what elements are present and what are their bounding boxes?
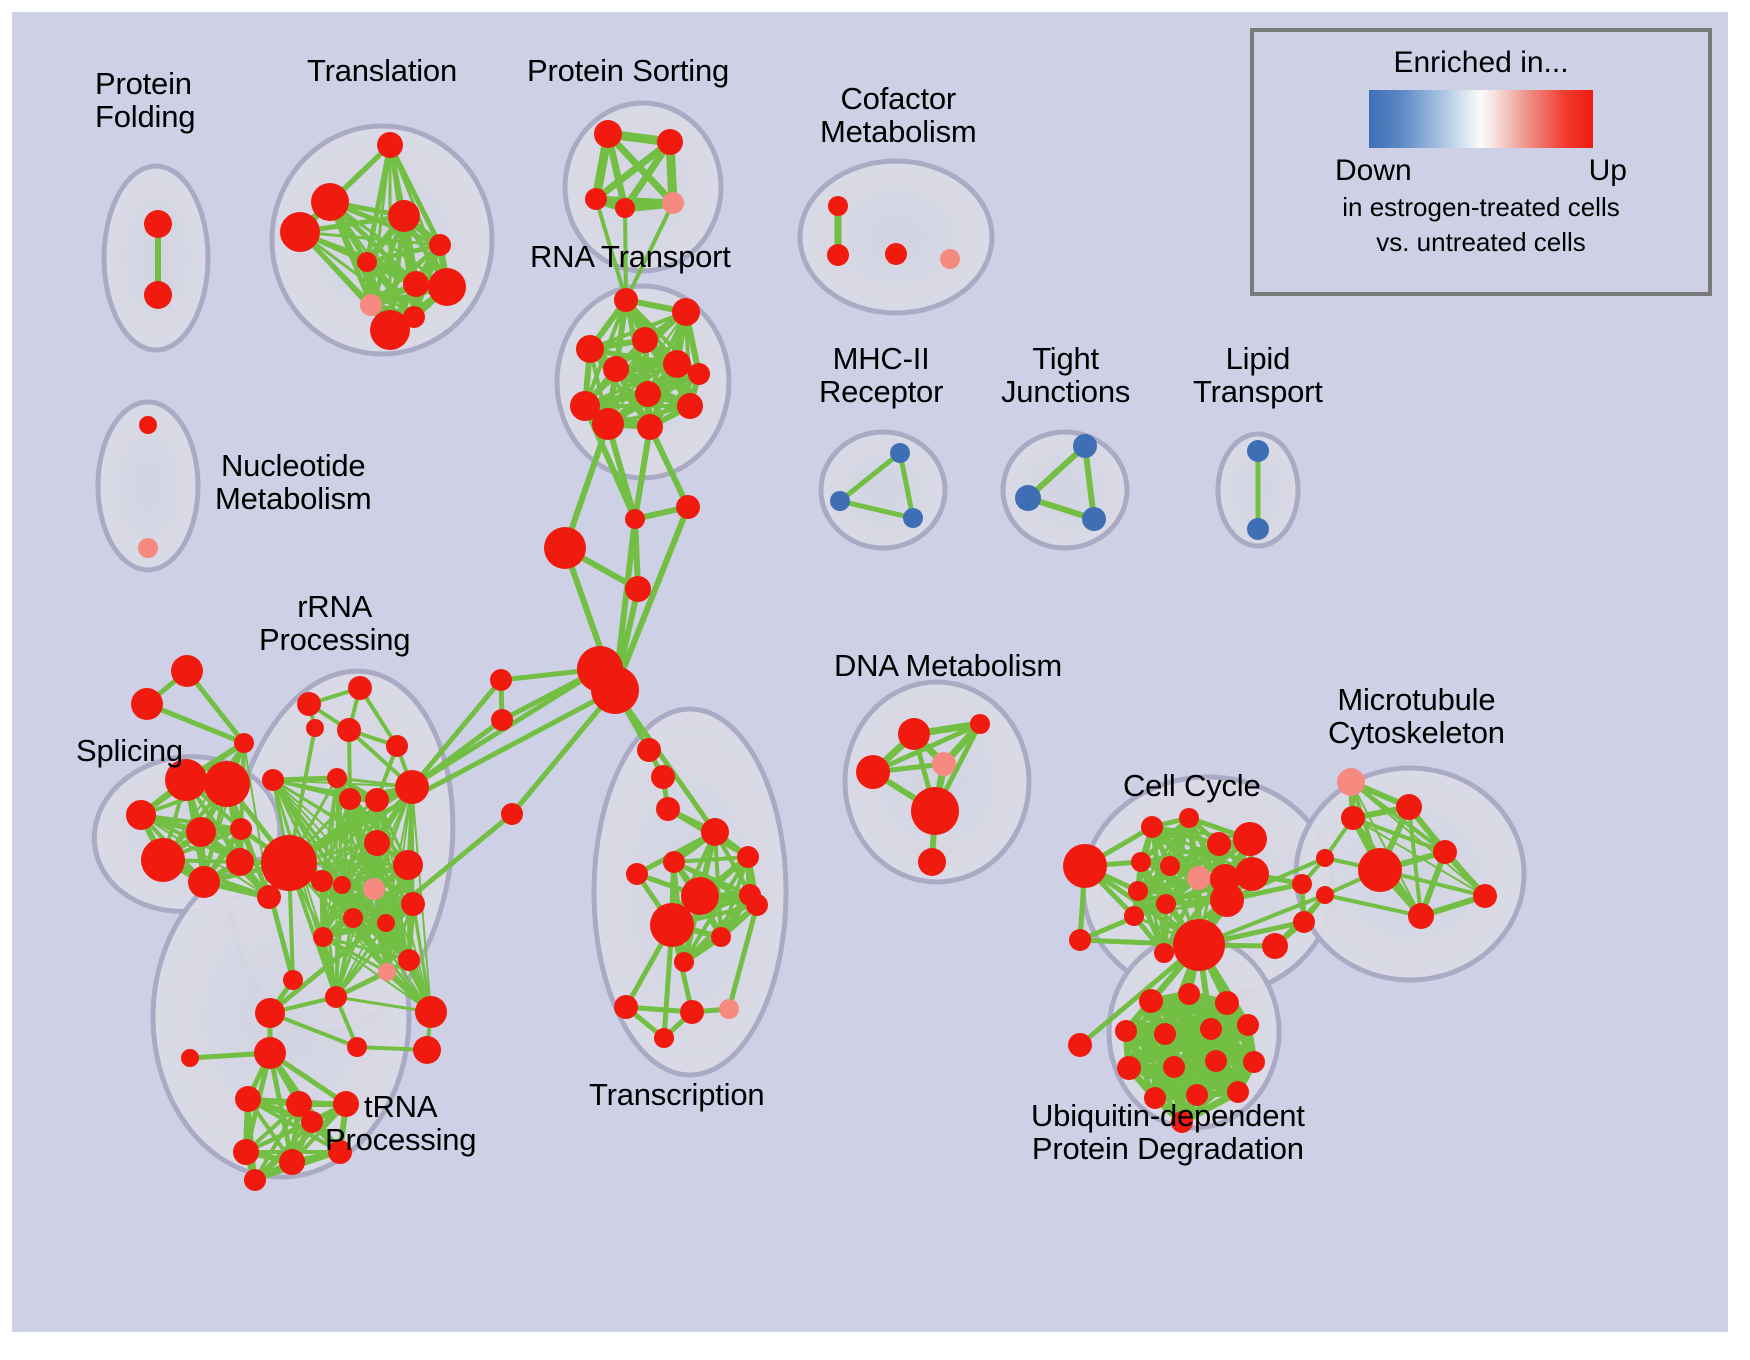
gene-set-node[interactable] (688, 363, 710, 385)
gene-set-node[interactable] (283, 970, 303, 990)
gene-set-node[interactable] (313, 927, 333, 947)
gene-set-node[interactable] (651, 765, 675, 789)
gene-set-node[interactable] (262, 769, 284, 791)
gene-set-node[interactable] (1433, 840, 1457, 864)
gene-set-node[interactable] (591, 666, 639, 714)
gene-set-node[interactable] (1163, 1056, 1185, 1078)
gene-set-node[interactable] (398, 949, 420, 971)
legend-down-label: Down (1335, 154, 1412, 188)
cluster-label-cofactor-metabolism: CofactorMetabolism (820, 82, 977, 149)
gene-set-node[interactable] (719, 999, 739, 1019)
gene-set-node[interactable] (737, 846, 759, 868)
cluster-label-rna-transport: RNA Transport (530, 240, 731, 273)
cluster-label-protein-folding: ProteinFolding (95, 67, 195, 134)
gene-set-node[interactable] (429, 234, 451, 256)
gene-set-node[interactable] (428, 268, 466, 306)
gene-set-node[interactable] (1243, 1051, 1265, 1073)
gene-set-node[interactable] (932, 752, 956, 776)
gene-set-node[interactable] (1207, 832, 1231, 856)
gene-set-node[interactable] (327, 768, 347, 788)
gene-set-node[interactable] (388, 200, 420, 232)
gene-set-node[interactable] (827, 244, 849, 266)
gene-set-node[interactable] (711, 927, 731, 947)
gene-set-node[interactable] (1473, 884, 1497, 908)
gene-set-node[interactable] (1233, 822, 1267, 856)
gene-set-node[interactable] (138, 538, 158, 558)
gene-set-node[interactable] (1247, 440, 1269, 462)
cluster-label-line: Translation (307, 54, 457, 87)
gene-set-node[interactable] (1015, 485, 1041, 511)
gene-set-node[interactable] (677, 393, 703, 419)
cluster-label-line: Cofactor (820, 82, 977, 115)
gene-set-node[interactable] (625, 576, 651, 602)
gene-set-node[interactable] (1117, 1056, 1141, 1080)
gene-set-node[interactable] (333, 876, 351, 894)
gene-set-node[interactable] (393, 850, 423, 880)
gene-set-node[interactable] (1262, 933, 1288, 959)
gene-set-node[interactable] (1215, 991, 1239, 1015)
gene-set-node[interactable] (144, 210, 172, 238)
gene-set-node[interactable] (970, 714, 990, 734)
gene-set-node[interactable] (898, 718, 930, 750)
gene-set-node[interactable] (377, 914, 395, 932)
gene-set-node[interactable] (343, 908, 363, 928)
cluster-label-line: DNA Metabolism (834, 649, 1062, 682)
legend-box: Enriched in... Down Up in estrogen-treat… (1250, 28, 1712, 296)
gene-set-node[interactable] (386, 735, 408, 757)
gene-set-node[interactable] (903, 508, 923, 528)
figure-root: ProteinFoldingTranslationProtein Sorting… (0, 0, 1750, 1360)
gene-set-node[interactable] (226, 848, 254, 876)
gene-set-node[interactable] (1154, 943, 1174, 963)
gene-set-node[interactable] (1200, 1018, 1222, 1040)
legend-subtitle-line2: vs. untreated cells (1376, 227, 1586, 258)
gene-set-node[interactable] (490, 669, 512, 691)
gene-set-node[interactable] (1069, 929, 1091, 951)
gene-set-node[interactable] (311, 870, 333, 892)
legend-subtitle-line1: in estrogen-treated cells (1342, 192, 1619, 223)
gene-set-node[interactable] (395, 770, 429, 804)
cluster-label-ubiquitin-degradation: Ubiquitin-dependentProtein Degradation (1031, 1099, 1305, 1166)
gene-set-node[interactable] (656, 797, 680, 821)
gene-set-node[interactable] (614, 288, 638, 312)
gene-set-node[interactable] (626, 863, 648, 885)
cluster-label-protein-sorting: Protein Sorting (527, 54, 729, 87)
gene-set-node[interactable] (325, 986, 347, 1008)
gene-set-node[interactable] (306, 719, 324, 737)
cluster-label-line: tRNA (325, 1090, 476, 1123)
cluster-label-cell-cycle: Cell Cycle (1123, 769, 1261, 802)
gene-set-node[interactable] (1205, 1050, 1227, 1072)
gene-set-node[interactable] (139, 416, 157, 434)
cluster-label-line: Junctions (1001, 375, 1130, 408)
gene-set-node[interactable] (280, 212, 320, 252)
cluster-label-line: Protein Degradation (1031, 1132, 1305, 1165)
gene-set-node[interactable] (186, 817, 216, 847)
cluster-label-nucleotide-metabolism: NucleotideMetabolism (215, 449, 372, 516)
gene-set-node[interactable] (1063, 844, 1107, 888)
gene-set-node[interactable] (890, 443, 910, 463)
gene-set-node[interactable] (357, 252, 377, 272)
gene-set-node[interactable] (348, 676, 372, 700)
gene-set-node[interactable] (144, 281, 172, 309)
gene-set-node[interactable] (311, 183, 349, 221)
gene-set-node[interactable] (365, 788, 389, 812)
gene-set-node[interactable] (403, 271, 429, 297)
cluster-label-line: Cell Cycle (1123, 769, 1261, 802)
gene-set-node[interactable] (279, 1149, 305, 1175)
gene-set-node[interactable] (233, 1139, 259, 1165)
gene-set-node[interactable] (1178, 983, 1200, 1005)
gene-set-node[interactable] (592, 408, 624, 440)
legend-title: Enriched in... (1393, 46, 1568, 80)
gene-set-node[interactable] (662, 192, 684, 214)
cluster-label-line: Metabolism (820, 115, 977, 148)
gene-set-node[interactable] (918, 848, 946, 876)
gene-set-node[interactable] (1115, 1020, 1137, 1042)
gene-set-node[interactable] (363, 878, 385, 900)
cluster-label-lipid-transport: LipidTransport (1193, 342, 1323, 409)
gene-set-node[interactable] (230, 818, 252, 840)
gene-set-node[interactable] (885, 243, 907, 265)
gene-set-node[interactable] (585, 188, 607, 210)
gene-set-node[interactable] (632, 327, 658, 353)
gene-set-node[interactable] (131, 688, 163, 720)
gene-set-node[interactable] (676, 495, 700, 519)
cluster-label-line: Splicing (76, 734, 183, 767)
gene-set-node[interactable] (501, 803, 523, 825)
gene-set-node[interactable] (674, 952, 694, 972)
cluster-label-line: Processing (325, 1123, 476, 1156)
gene-set-node[interactable] (254, 1037, 286, 1069)
gene-set-node[interactable] (1128, 881, 1148, 901)
gene-set-node[interactable] (360, 294, 382, 316)
gene-set-node[interactable] (262, 888, 280, 906)
gene-set-node[interactable] (126, 800, 156, 830)
gene-set-node[interactable] (301, 1111, 323, 1133)
gene-set-node[interactable] (364, 830, 390, 856)
gene-set-node[interactable] (672, 298, 700, 326)
gene-set-node[interactable] (297, 692, 321, 716)
gene-set-node[interactable] (1082, 507, 1106, 531)
gene-set-node[interactable] (1210, 883, 1244, 917)
cluster-label-rrna-processing: rRNAProcessing (259, 590, 410, 657)
gene-set-node[interactable] (544, 527, 586, 569)
gene-set-node[interactable] (1292, 874, 1312, 894)
gene-set-node[interactable] (603, 356, 629, 382)
gene-set-node[interactable] (415, 996, 447, 1028)
gene-set-node[interactable] (911, 787, 959, 835)
gene-set-node[interactable] (204, 761, 250, 807)
gene-set-node[interactable] (1316, 886, 1334, 904)
cluster-label-transcription: Transcription (589, 1078, 764, 1111)
gene-set-node[interactable] (1131, 852, 1151, 872)
gene-set-node[interactable] (347, 1037, 367, 1057)
gene-set-node[interactable] (701, 818, 729, 846)
gene-set-node[interactable] (637, 738, 661, 762)
cluster-label-line: Folding (95, 100, 195, 133)
cluster-label-line: MHC-II (819, 342, 943, 375)
gene-set-node[interactable] (339, 788, 361, 810)
gene-set-node[interactable] (663, 851, 685, 873)
gene-set-node[interactable] (746, 894, 768, 916)
gene-set-node[interactable] (337, 718, 361, 742)
cluster-label-microtubule-cytoskeleton: MicrotubuleCytoskeleton (1328, 683, 1505, 750)
gene-set-node[interactable] (576, 335, 604, 363)
gene-set-node[interactable] (1156, 894, 1176, 914)
gene-set-node[interactable] (1358, 848, 1402, 892)
gene-set-node[interactable] (1316, 849, 1334, 867)
cluster-label-line: Ubiquitin-dependent (1031, 1099, 1305, 1132)
gene-set-node[interactable] (828, 196, 848, 216)
gene-set-node[interactable] (594, 120, 622, 148)
enrichment-map-canvas: ProteinFoldingTranslationProtein Sorting… (12, 12, 1728, 1332)
cluster-label-line: Metabolism (215, 482, 372, 515)
cluster-label-line: Lipid (1193, 342, 1323, 375)
cluster-label-translation: Translation (307, 54, 457, 87)
gene-set-node[interactable] (1124, 906, 1144, 926)
gene-set-node[interactable] (1235, 857, 1269, 891)
cluster-label-line: Transcription (589, 1078, 764, 1111)
cluster-label-mhc-ii-receptor: MHC-IIReceptor (819, 342, 943, 409)
gene-set-node[interactable] (1139, 989, 1163, 1013)
gene-set-node[interactable] (680, 1000, 704, 1024)
cluster-label-line: Transport (1193, 375, 1323, 408)
gene-set-node[interactable] (635, 381, 661, 407)
gene-set-node[interactable] (1337, 768, 1365, 796)
gene-set-node[interactable] (657, 129, 683, 155)
gene-set-node[interactable] (663, 350, 691, 378)
legend-gradient-bar (1369, 90, 1593, 148)
gene-set-node[interactable] (637, 414, 663, 440)
cluster-label-line: Microtubule (1328, 683, 1505, 716)
gene-set-node[interactable] (1173, 919, 1225, 971)
gene-set-node[interactable] (1408, 903, 1434, 929)
gene-set-node[interactable] (401, 892, 425, 916)
gene-set-node[interactable] (234, 733, 254, 753)
gene-set-node[interactable] (1068, 1033, 1092, 1057)
gene-set-node[interactable] (615, 198, 635, 218)
cluster-label-line: Protein (95, 67, 195, 100)
gene-set-node[interactable] (181, 1049, 199, 1067)
gene-set-node[interactable] (255, 998, 285, 1028)
gene-set-node[interactable] (650, 903, 694, 947)
gene-set-node[interactable] (491, 709, 513, 731)
gene-set-node[interactable] (413, 1036, 441, 1064)
gene-set-node[interactable] (171, 655, 203, 687)
gene-set-node[interactable] (625, 509, 645, 529)
gene-set-node[interactable] (1179, 808, 1199, 828)
gene-set-node[interactable] (1160, 856, 1180, 876)
cluster-label-line: rRNA (259, 590, 410, 623)
gene-set-node[interactable] (377, 132, 403, 158)
gene-set-node[interactable] (370, 310, 410, 350)
cluster-label-dna-metabolism: DNA Metabolism (834, 649, 1062, 682)
gene-set-node[interactable] (141, 838, 185, 882)
mhc-ii-hull (821, 432, 945, 548)
gene-set-node[interactable] (1247, 518, 1269, 540)
cluster-label-line: Tight (1001, 342, 1130, 375)
gene-set-node[interactable] (1293, 911, 1315, 933)
gene-set-node[interactable] (235, 1086, 261, 1112)
gene-set-node[interactable] (1073, 434, 1097, 458)
gene-set-node[interactable] (856, 755, 890, 789)
gene-set-node[interactable] (188, 866, 220, 898)
gene-set-node[interactable] (378, 963, 396, 981)
gene-set-node[interactable] (654, 1028, 674, 1048)
cluster-label-line: Protein Sorting (527, 54, 729, 87)
gene-set-node[interactable] (1396, 794, 1422, 820)
gene-set-node[interactable] (940, 249, 960, 269)
cluster-label-trna-processing: tRNAProcessing (325, 1090, 476, 1157)
cluster-label-line: Processing (259, 623, 410, 656)
cluster-label-line: Receptor (819, 375, 943, 408)
gene-set-node[interactable] (244, 1169, 266, 1191)
gene-set-node[interactable] (830, 491, 850, 511)
cluster-label-line: Cytoskeleton (1328, 716, 1505, 749)
cluster-label-tight-junctions: TightJunctions (1001, 342, 1130, 409)
cluster-label-line: RNA Transport (530, 240, 731, 273)
cluster-label-line: Nucleotide (215, 449, 372, 482)
gene-set-node[interactable] (261, 835, 317, 891)
gene-set-node[interactable] (1237, 1014, 1259, 1036)
cluster-label-splicing: Splicing (76, 734, 183, 767)
cofactor-metabolism-hull (800, 161, 992, 313)
legend-up-label: Up (1589, 154, 1627, 188)
gene-set-node[interactable] (1141, 816, 1163, 838)
gene-set-node[interactable] (614, 995, 638, 1019)
gene-set-node[interactable] (1341, 806, 1365, 830)
gene-set-node[interactable] (1187, 866, 1211, 890)
gene-set-node[interactable] (1154, 1023, 1176, 1045)
